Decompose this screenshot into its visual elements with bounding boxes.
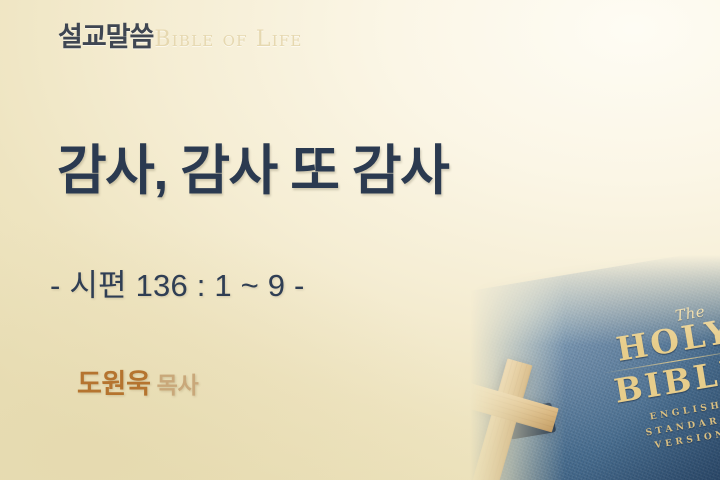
brand-header: 설교말씀 Bible of Life xyxy=(58,24,303,51)
speaker-line: 도원욱목사 xyxy=(77,370,198,400)
brand-english-text: Bible of Life xyxy=(154,29,302,51)
sermon-title: 감사, 감사 또 감사 xyxy=(57,141,448,201)
holy-bible-photo: The HOLY BIBLE ENGLISH STANDARD VERSION xyxy=(470,255,720,480)
speaker-role: 목사 xyxy=(157,372,199,398)
brand-korean-text: 설교말씀 xyxy=(58,24,153,51)
speaker-name: 도원욱 xyxy=(77,369,151,399)
scripture-reference: - 시편 136 : 1 ~ 9 - xyxy=(50,269,305,303)
sermon-title-slide: 설교말씀 Bible of Life 감사, 감사 또 감사 - 시편 136 … xyxy=(0,0,720,480)
bible-cover-lettering: The HOLY BIBLE ENGLISH STANDARD VERSION xyxy=(587,294,720,460)
